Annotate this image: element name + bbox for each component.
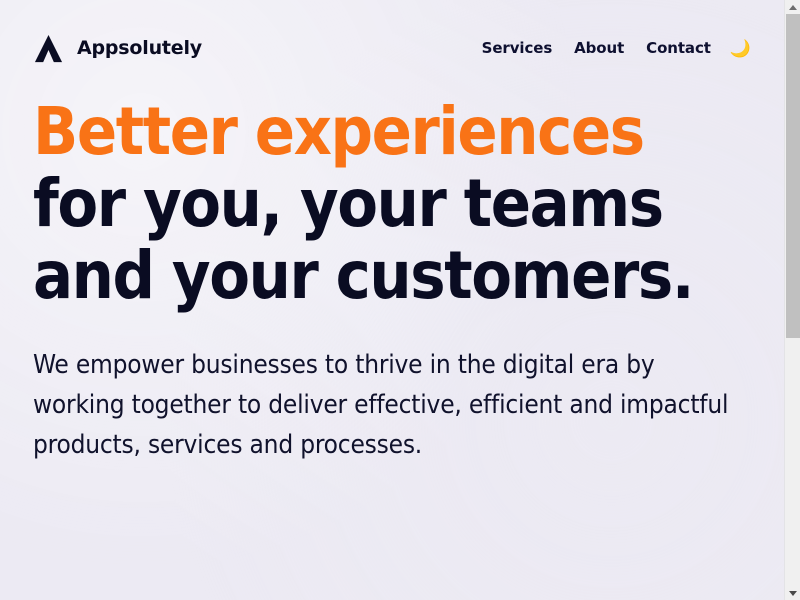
nav-link-services[interactable]: Services: [482, 41, 553, 56]
mountain-a-logo-icon: [33, 33, 64, 64]
nav-link-contact[interactable]: Contact: [646, 41, 711, 56]
brand-logo-link[interactable]: Appsolutely: [33, 33, 202, 64]
vertical-scrollbar[interactable]: [784, 0, 800, 600]
hero-section: Better experiences for you, your teams a…: [0, 96, 784, 465]
hero-title-rest: for you, your teams and your customers.: [33, 165, 693, 314]
nav-link-about[interactable]: About: [574, 41, 624, 56]
main-nav: Services About Contact 🌙: [482, 40, 751, 57]
crescent-moon-icon[interactable]: 🌙: [730, 40, 751, 57]
scroll-up-arrow-icon: [789, 5, 797, 10]
page-title: Better experiences for you, your teams a…: [33, 96, 751, 312]
site-header: Appsolutely Services About Contact 🌙: [0, 0, 784, 96]
hero-title-accent: Better experiences: [33, 93, 644, 170]
scrollbar-thumb[interactable]: [786, 14, 800, 338]
scroll-up-button[interactable]: [785, 0, 800, 14]
page-viewport: Appsolutely Services About Contact 🌙 Bet…: [0, 0, 784, 600]
brand-name: Appsolutely: [77, 39, 202, 58]
hero-body-text: We empower businesses to thrive in the d…: [33, 345, 748, 465]
scroll-down-arrow-icon: [789, 591, 797, 596]
scroll-down-button[interactable]: [785, 586, 800, 600]
